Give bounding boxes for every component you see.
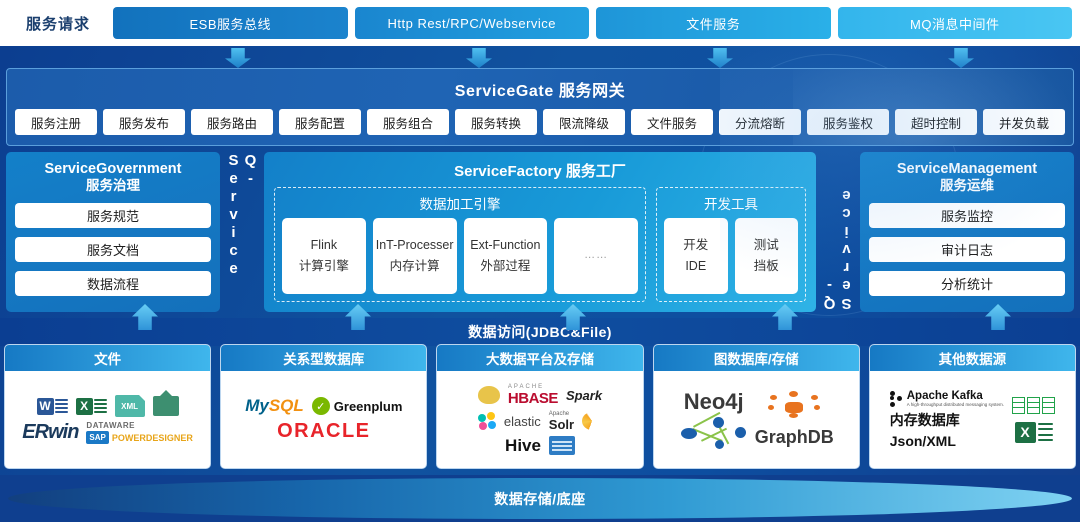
engine-cell-more[interactable]: …… — [554, 218, 638, 294]
request-button-http[interactable]: Http Rest/RPC/Webservice — [355, 7, 590, 39]
tools-cell-test-l2: 挡板 — [754, 259, 779, 275]
bigdata-logo-row-1: APACHEHBASE Spark — [478, 384, 602, 407]
govern-item-service-doc[interactable]: 服务文档 — [15, 237, 211, 262]
sap-logo: SAP — [86, 431, 108, 444]
engine-cell-list: Flink 计算引擎 InT-Processer 内存计算 Ext-Functi… — [282, 218, 638, 294]
oracle-logo: ORACLE — [277, 420, 370, 443]
gate-chip-timeout-control[interactable]: 超时控制 — [895, 109, 977, 135]
q-service-left-label: Q-Service — [220, 152, 264, 312]
service-government-en: ServiceGovernment — [15, 161, 211, 178]
gate-chip-service-compose[interactable]: 服务组合 — [367, 109, 449, 135]
data-processing-engine-group: 数据加工引擎 Flink 计算引擎 InT-Processer 内存计算 Ext… — [274, 187, 646, 302]
tools-cell-test-l1: 测试 — [754, 238, 779, 254]
source-card-file[interactable]: 文件 W X — [4, 344, 211, 469]
service-management-header: ServiceManagement 服务运维 — [869, 161, 1065, 194]
source-card-other-title: 其他数据源 — [870, 345, 1075, 371]
source-card-file-title: 文件 — [5, 345, 210, 371]
memory-db-label: 内存数据库 — [890, 410, 960, 430]
gate-chip-service-auth[interactable]: 服务鉴权 — [807, 109, 889, 135]
source-card-bigdata-body: APACHEHBASE Spark elastic ApacheSolr — [437, 371, 642, 468]
gate-chip-service-publish[interactable]: 服务发布 — [103, 109, 185, 135]
engine-cell-int-l1: InT-Processer — [376, 238, 454, 254]
gate-chip-service-config[interactable]: 服务配置 — [279, 109, 361, 135]
kafka-mark-icon — [890, 391, 904, 407]
govern-item-service-spec[interactable]: 服务规范 — [15, 203, 211, 228]
data-source-card-row: 文件 W X — [4, 344, 1076, 469]
source-card-graph-db[interactable]: 图数据库/存储 Neo4j — [653, 344, 860, 469]
engine-cell-ext-l2: 外部过程 — [480, 259, 530, 275]
gate-chip-concurrency-load[interactable]: 并发负载 — [983, 109, 1065, 135]
source-card-relational-db-body: MySQL ✓ Greenplum ORACLE — [221, 371, 426, 468]
green-grid-icon — [1012, 397, 1055, 414]
service-management-panel: ServiceManagement 服务运维 服务监控 审计日志 分析统计 — [860, 152, 1074, 312]
kafka-tagline: A high-throughput distributed messaging … — [907, 402, 1004, 407]
greenplum-mark-icon: ✓ — [312, 397, 330, 415]
govern-item-data-flow[interactable]: 数据流程 — [15, 271, 211, 296]
servicegate-capability-list: 服务注册 服务发布 服务路由 服务配置 服务组合 服务转换 限流降级 文件服务 … — [7, 101, 1073, 135]
dev-tools-group: 开发工具 开发 IDE 测试 挡板 — [656, 187, 806, 302]
service-request-bar: 服务请求 ESB服务总线 Http Rest/RPC/Webservice 文件… — [0, 0, 1080, 46]
data-processing-engine-title: 数据加工引擎 — [282, 193, 638, 213]
tools-cell-dev-l1: 开发 — [683, 238, 708, 254]
service-management-cn: 服务运维 — [869, 178, 1065, 194]
arrow-down-icon — [466, 48, 492, 68]
arrow-down-icon — [225, 48, 251, 68]
dev-tools-title: 开发工具 — [664, 193, 798, 213]
spark-logo: Spark — [566, 388, 602, 403]
hbase-logo: APACHEHBASE — [508, 384, 558, 407]
engine-cell-flink-l1: Flink — [311, 238, 337, 254]
solr-sun-icon — [582, 412, 602, 430]
q-service-left-text: Q-Service — [225, 152, 259, 312]
green-doc-icon — [153, 396, 179, 416]
engine-cell-ext-function[interactable]: Ext-Function 外部过程 — [464, 218, 548, 294]
engine-cell-more-l1: …… — [584, 249, 608, 263]
excel-icon: X — [76, 398, 107, 415]
source-card-other-body: Apache Kafka A high-throughput distribut… — [870, 371, 1075, 468]
hive-bee-icon — [478, 386, 500, 404]
erwin-logo: ERwin — [22, 421, 78, 444]
json-xml-label: Json/XML — [890, 433, 956, 449]
request-button-file[interactable]: 文件服务 — [596, 7, 831, 39]
core-capability-zone: ServiceGovernment 服务治理 服务规范 服务文档 数据流程 Q-… — [6, 152, 1074, 312]
tools-cell-test-mock[interactable]: 测试 挡板 — [735, 218, 799, 294]
servicegate-title: ServiceGate 服务网关 — [7, 69, 1073, 101]
file-logo-row-2: ERwin DATAWARE SAP POWERDESIGNER — [22, 421, 193, 444]
engine-cell-int-l2: 内存计算 — [390, 259, 440, 275]
source-card-relational-db-title: 关系型数据库 — [221, 345, 426, 371]
greenplum-logo: ✓ Greenplum — [312, 397, 403, 415]
engine-cell-int-processer[interactable]: InT-Processer 内存计算 — [373, 218, 457, 294]
gate-chip-service-transform[interactable]: 服务转换 — [455, 109, 537, 135]
q-service-right-label: Q-Service — [816, 152, 860, 312]
dataware-logo: DATAWARE — [86, 421, 135, 430]
manage-item-service-monitor[interactable]: 服务监控 — [869, 203, 1065, 228]
excel-icon: X — [1015, 422, 1053, 443]
rdb-logo-row-1: MySQL ✓ Greenplum — [245, 396, 402, 416]
data-access-label: 数据访问(JDBC&File) — [468, 322, 612, 342]
hive-file-icon — [549, 436, 575, 455]
panel-glow-decoration — [793, 68, 1074, 146]
source-card-graph-db-body: Neo4j — [654, 371, 859, 468]
data-storage-base-area: 数据存储/底座 — [0, 475, 1080, 522]
manage-item-analysis-stats[interactable]: 分析统计 — [869, 271, 1065, 296]
engine-cell-flink-l2: 计算引擎 — [299, 259, 349, 275]
graphdb-logo: GraphDB — [755, 427, 834, 448]
q-service-right-text: Q-Service — [821, 152, 855, 312]
service-government-cn: 服务治理 — [15, 178, 211, 194]
service-government-header: ServiceGovernment 服务治理 — [15, 161, 211, 194]
data-access-bar: 数据访问(JDBC&File) — [0, 318, 1080, 346]
engine-cell-ext-l1: Ext-Function — [470, 238, 540, 254]
manage-item-audit-log[interactable]: 审计日志 — [869, 237, 1065, 262]
source-card-other[interactable]: 其他数据源 Apache Kafka A high-throughput dis… — [869, 344, 1076, 469]
bigdata-logo-row-3: Hive — [505, 436, 575, 456]
source-card-bigdata-title: 大数据平台及存储 — [437, 345, 642, 371]
arrow-down-icon — [948, 48, 974, 68]
service-management-en: ServiceManagement — [869, 161, 1065, 178]
service-factory-title: ServiceFactory 服务工厂 — [274, 160, 806, 181]
source-card-file-body: W X XML — [5, 371, 210, 468]
mysql-logo: MySQL — [245, 396, 304, 416]
elastic-logo: elastic — [504, 414, 541, 429]
arrow-down-icon — [707, 48, 733, 68]
servicegate-panel: ServiceGate 服务网关 服务注册 服务发布 服务路由 服务配置 服务组… — [6, 68, 1074, 146]
service-factory-body: 数据加工引擎 Flink 计算引擎 InT-Processer 内存计算 Ext… — [274, 187, 806, 302]
powerdesigner-logo: POWERDESIGNER — [112, 433, 193, 443]
xml-file-icon: XML — [115, 395, 145, 417]
tools-cell-dev-l2: IDE — [685, 259, 706, 275]
hive-logo: Hive — [505, 436, 541, 456]
dev-tools-cell-list: 开发 IDE 测试 挡板 — [664, 218, 798, 294]
graphdb-mark-icon — [768, 391, 820, 425]
gate-chip-circuit-breaker[interactable]: 分流熔断 — [719, 109, 801, 135]
data-storage-base-label: 数据存储/底座 — [494, 489, 585, 509]
request-button-esb[interactable]: ESB服务总线 — [113, 7, 348, 39]
gate-chip-rate-limit[interactable]: 限流降级 — [543, 109, 625, 135]
gate-chip-service-register[interactable]: 服务注册 — [15, 109, 97, 135]
gate-chip-service-route[interactable]: 服务路由 — [191, 109, 273, 135]
kafka-logo: Apache Kafka A high-throughput distribut… — [890, 390, 1004, 407]
solr-logo: ApacheSolr — [549, 411, 574, 432]
source-card-bigdata[interactable]: 大数据平台及存储 APACHEHBASE Spark — [436, 344, 643, 469]
service-government-panel: ServiceGovernment 服务治理 服务规范 服务文档 数据流程 — [6, 152, 220, 312]
source-card-relational-db[interactable]: 关系型数据库 MySQL ✓ Greenplum ORACLE — [220, 344, 427, 469]
file-logo-row-1: W X XML — [37, 395, 179, 417]
word-icon: W — [37, 398, 68, 415]
neo4j-graph-icon — [679, 416, 749, 450]
kafka-text: Apache Kafka A high-throughput distribut… — [907, 390, 1004, 407]
neo4j-logo: Neo4j — [684, 389, 744, 415]
request-button-mq[interactable]: MQ消息中间件 — [838, 7, 1073, 39]
elastic-mark-icon — [478, 412, 496, 430]
greenplum-text: Greenplum — [334, 399, 403, 414]
rdb-logo-row-2: ORACLE — [277, 420, 370, 443]
engine-cell-flink[interactable]: Flink 计算引擎 — [282, 218, 366, 294]
service-factory-panel: ServiceFactory 服务工厂 数据加工引擎 Flink 计算引擎 In… — [264, 152, 816, 312]
gate-chip-file-service[interactable]: 文件服务 — [631, 109, 713, 135]
data-storage-base: 数据存储/底座 — [8, 478, 1072, 519]
service-request-label: 服务请求 — [10, 13, 106, 34]
bigdata-logo-row-2: elastic ApacheSolr — [478, 411, 602, 432]
architecture-band: ServiceGate 服务网关 服务注册 服务发布 服务路由 服务配置 服务组… — [0, 46, 1080, 475]
source-card-graph-db-title: 图数据库/存储 — [654, 345, 859, 371]
tools-cell-dev-ide[interactable]: 开发 IDE — [664, 218, 728, 294]
